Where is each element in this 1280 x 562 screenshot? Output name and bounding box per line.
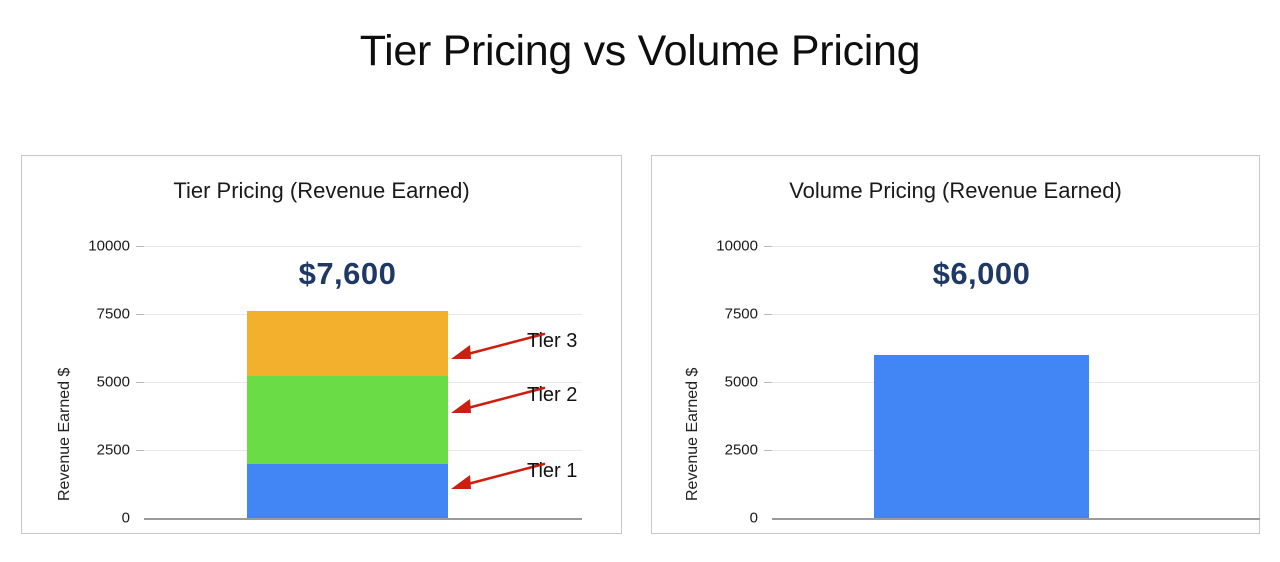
ytick-dash-5000: [764, 382, 772, 383]
ytick-dash-10000: [764, 246, 772, 247]
bar-segment-tier-2[interactable]: [247, 376, 448, 464]
ytick-dash-2500: [764, 450, 772, 451]
ytick-dash-2500: [136, 450, 144, 451]
annotation-label-tier-2: Tier 2: [527, 384, 577, 407]
axis-baseline: [772, 518, 1260, 520]
tier-pricing-chart-card: Tier Pricing (Revenue Earned) Revenue Ea…: [21, 155, 622, 534]
ytick-label-2500: 2500: [694, 442, 758, 459]
axis-baseline: [144, 518, 582, 520]
ytick-label-5000: 5000: [694, 374, 758, 391]
annotation-label-tier-1: Tier 1: [527, 460, 577, 483]
volume-pricing-plot-area: Revenue Earned $ 10000 7500 5000 2500 0 …: [652, 156, 1259, 533]
ytick-label-10000: 10000: [694, 238, 758, 255]
tier-pricing-plot-area: Revenue Earned $ 10000 7500 5000 2500 0 …: [22, 156, 621, 533]
bar-segment-tier-1[interactable]: [247, 464, 448, 518]
gridline-10000: [144, 246, 582, 247]
ytick-dash-10000: [136, 246, 144, 247]
tier-pricing-total-value-label: $7,600: [247, 256, 448, 292]
ytick-label-0: 0: [694, 510, 758, 527]
ytick-label-10000: 10000: [66, 238, 130, 255]
volume-pricing-total-value-label: $6,000: [874, 256, 1089, 292]
ytick-label-2500: 2500: [66, 442, 130, 459]
ytick-label-7500: 7500: [694, 306, 758, 323]
ytick-dash-7500: [764, 314, 772, 315]
ytick-dash-7500: [136, 314, 144, 315]
ytick-label-0: 0: [66, 510, 130, 527]
gridline-7500: [772, 314, 1260, 315]
page-title: Tier Pricing vs Volume Pricing: [0, 28, 1280, 75]
bar-segment-tier-3[interactable]: [247, 311, 448, 376]
ytick-label-5000: 5000: [66, 374, 130, 391]
ytick-dash-5000: [136, 382, 144, 383]
gridline-10000: [772, 246, 1260, 247]
annotation-label-tier-3: Tier 3: [527, 330, 577, 353]
bar-volume-pricing[interactable]: [874, 355, 1089, 518]
ytick-label-7500: 7500: [66, 306, 130, 323]
volume-pricing-chart-card: Volume Pricing (Revenue Earned) Revenue …: [651, 155, 1260, 534]
